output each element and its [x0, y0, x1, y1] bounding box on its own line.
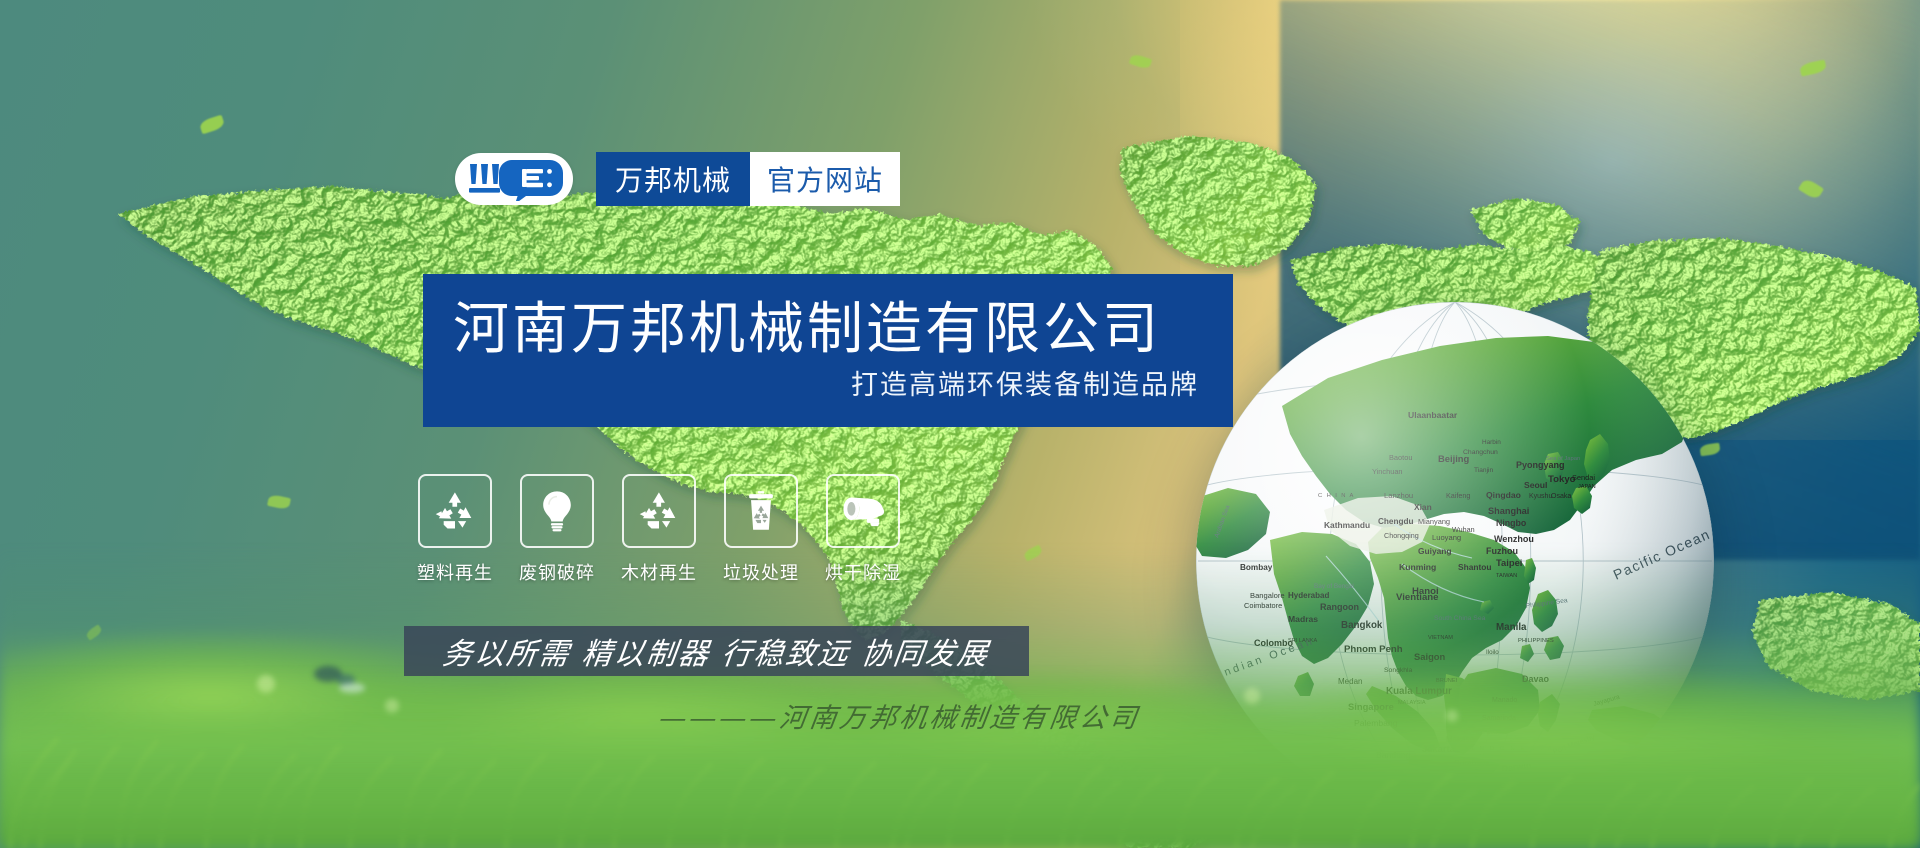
slogan-attribution: ————河南万邦机械制造有限公司 — [657, 696, 1142, 735]
official-site-label: 官方网站 — [767, 159, 883, 199]
service-item-waste-treatment[interactable]: 垃圾处理 — [724, 474, 798, 585]
service-label: 木材再生 — [621, 559, 697, 585]
lightbulb-icon — [534, 488, 580, 534]
service-icon-box — [826, 474, 900, 548]
hero-title-banner: 河南万邦机械制造有限公司 打造高端环保装备制造品牌 — [423, 274, 1233, 427]
dryer-blower-icon — [839, 489, 887, 533]
service-item-plastic-recycling[interactable]: 塑料再生 — [418, 474, 492, 585]
service-item-wood-recycling[interactable]: 木材再生 — [622, 474, 696, 585]
service-icon-box — [622, 474, 696, 548]
service-label: 烘干除湿 — [825, 559, 901, 585]
service-icon-box — [724, 474, 798, 548]
brand-name-label: 万邦机械 — [615, 159, 731, 199]
page-title: 河南万邦机械制造有限公司 — [453, 298, 1199, 362]
slogan-text: 务以所需 精以制器 行稳致远 协同发展 — [440, 629, 992, 673]
recycle-icon — [636, 488, 682, 534]
recycle-icon — [432, 488, 478, 534]
service-icon-box — [520, 474, 594, 548]
service-icons-row: 塑料再生 废钢破碎 — [418, 474, 900, 585]
service-item-scrap-steel-shredding[interactable]: 废钢破碎 — [520, 474, 594, 585]
wb-logo-icon[interactable] — [455, 153, 573, 205]
service-label: 垃圾处理 — [723, 559, 799, 585]
service-label: 塑料再生 — [417, 559, 493, 585]
logo-letter-b — [499, 160, 563, 201]
brand-name-tab[interactable]: 万邦机械 — [596, 152, 750, 206]
page-subtitle: 打造高端环保装备制造品牌 — [453, 370, 1199, 402]
service-icon-box — [418, 474, 492, 548]
site-header: 万邦机械 官方网站 — [455, 152, 900, 206]
slogan-bar: 务以所需 精以制器 行稳致远 协同发展 — [404, 626, 1029, 676]
logo-letter-w — [469, 164, 500, 193]
service-label: 废钢破碎 — [519, 559, 595, 585]
official-site-tab[interactable]: 官方网站 — [750, 152, 900, 206]
trash-bin-recycle-icon — [738, 488, 784, 534]
service-item-drying-dehumidifying[interactable]: 烘干除湿 — [826, 474, 900, 585]
hero-banner-page: Ulaanbaatar Beijing Baotou Yinchuan Chan… — [0, 0, 1920, 848]
